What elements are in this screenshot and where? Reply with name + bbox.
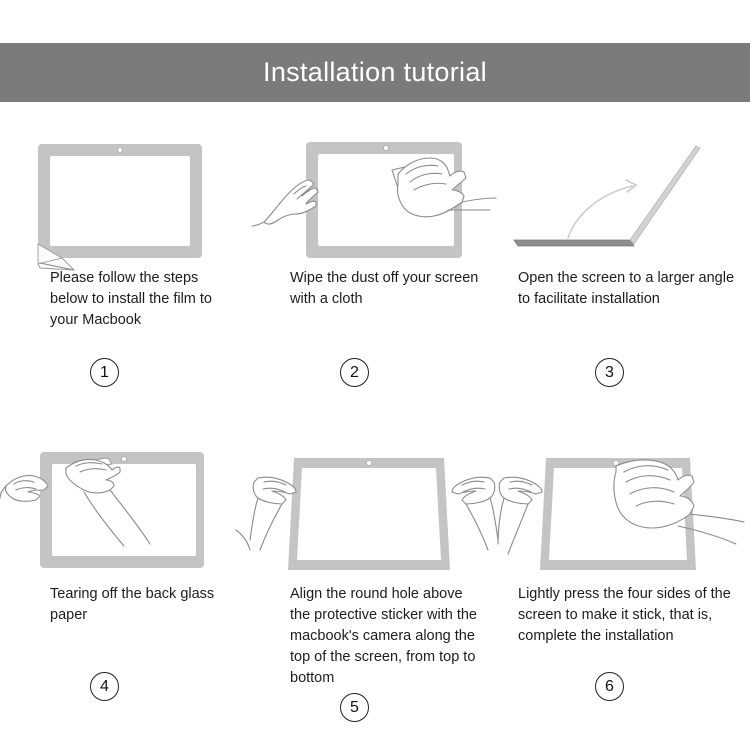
step-number-badge-1: 1	[90, 358, 119, 387]
step-3-illustration	[500, 118, 750, 268]
step-1-badge-row: 1	[0, 358, 250, 387]
step-card-2: Wipe the dust off your screen with a clo…	[250, 118, 500, 434]
step-6-caption: Lightly press the four sides of the scre…	[518, 584, 750, 668]
step-number-badge-4: 4	[90, 672, 119, 701]
step-number-badge-3: 3	[595, 358, 624, 387]
step-card-1: Please follow the steps below to install…	[0, 118, 250, 434]
step-6-badge-row: 6	[500, 672, 750, 701]
step-1-illustration	[0, 118, 250, 268]
step-number-badge-5: 5	[340, 693, 369, 722]
steps-grid: Please follow the steps below to install…	[0, 118, 750, 750]
step-number-badge-2: 2	[340, 358, 369, 387]
step-card-4: Tearing off the back glass paper 4	[0, 434, 250, 750]
step-1-caption: Please follow the steps below to install…	[50, 268, 250, 352]
step-2-badge-row: 2	[250, 358, 500, 387]
step-4-illustration	[0, 434, 250, 584]
step-2-caption: Wipe the dust off your screen with a clo…	[290, 268, 500, 352]
step-5-caption: Align the round hole above the protectiv…	[290, 584, 500, 689]
tutorial-header-banner: Installation tutorial	[0, 43, 750, 102]
step-card-3: Open the screen to a larger angle to fac…	[500, 118, 750, 434]
step-4-caption: Tearing off the back glass paper	[50, 584, 250, 668]
step-2-illustration	[250, 118, 500, 268]
step-3-caption: Open the screen to a larger angle to fac…	[518, 268, 750, 352]
step-4-badge-row: 4	[0, 672, 250, 701]
page-title: Installation tutorial	[263, 59, 487, 86]
step-card-5: Align the round hole above the protectiv…	[250, 434, 500, 750]
step-6-illustration	[500, 434, 750, 584]
step-card-6: Lightly press the four sides of the scre…	[500, 434, 750, 750]
step-5-badge-row: 5	[250, 693, 500, 722]
step-number-badge-6: 6	[595, 672, 624, 701]
step-5-illustration	[250, 434, 500, 584]
step-3-badge-row: 3	[500, 358, 750, 387]
